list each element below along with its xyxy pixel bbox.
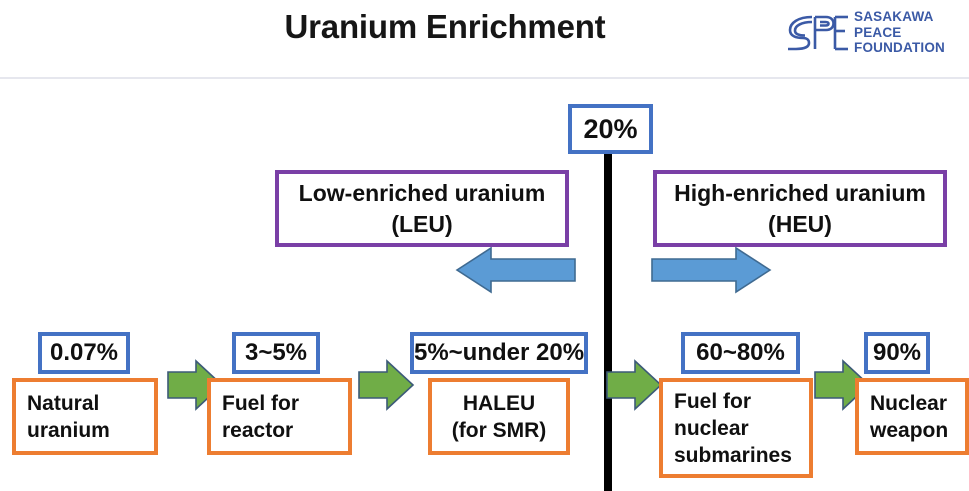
green-arrow-2 <box>357 359 415 411</box>
nuclear-weapon-line-2: weapon <box>870 417 948 444</box>
percent-box-haleu: 5%~under 20% <box>410 332 588 374</box>
page-title: Uranium Enrichment <box>0 8 890 46</box>
green-arrow-3 <box>605 359 663 411</box>
category-heu-line-1: High-enriched uranium <box>674 178 926 209</box>
percent-box-fuel-for-nuclear-submarines: 60~80% <box>681 332 800 374</box>
threshold-percent-box: 20% <box>568 104 653 154</box>
category-leu-line-2: (LEU) <box>391 209 452 240</box>
percent-box-natural-uranium: 0.07% <box>38 332 130 374</box>
nuclear-weapon-line-1: Nuclear <box>870 390 947 417</box>
haleu-line-1: HALEU <box>463 390 535 417</box>
fuel-submarines-line-2: nuclear <box>674 415 749 442</box>
blue-arrow-right <box>650 246 772 294</box>
blue-arrow-left <box>455 246 577 294</box>
header-divider <box>0 77 969 79</box>
fuel-for-reactor-line-1: Fuel for <box>222 390 299 417</box>
threshold-divider-line <box>604 144 612 491</box>
category-box-leu: Low-enriched uranium (LEU) <box>275 170 569 247</box>
logo-line-2: PEACE <box>854 25 954 41</box>
natural-uranium-line-2: uranium <box>27 417 110 444</box>
natural-uranium-line-1: Natural <box>27 390 99 417</box>
logo-wordmark: SASAKAWA PEACE FOUNDATION <box>854 9 954 56</box>
item-box-fuel-for-reactor: Fuel for reactor <box>207 378 352 455</box>
item-box-fuel-for-nuclear-submarines: Fuel for nuclear submarines <box>659 378 813 478</box>
item-box-haleu: HALEU (for SMR) <box>428 378 570 455</box>
logo-line-1: SASAKAWA <box>854 9 954 25</box>
percent-box-fuel-for-reactor: 3~5% <box>232 332 320 374</box>
fuel-for-reactor-line-2: reactor <box>222 417 293 444</box>
category-box-heu: High-enriched uranium (HEU) <box>653 170 947 247</box>
percent-box-nuclear-weapon: 90% <box>864 332 930 374</box>
category-heu-line-2: (HEU) <box>768 209 832 240</box>
spf-monogram-icon <box>782 11 850 55</box>
fuel-submarines-line-3: submarines <box>674 442 792 469</box>
sasakawa-peace-foundation-logo: SASAKAWA PEACE FOUNDATION <box>782 9 954 59</box>
logo-line-3: FOUNDATION <box>854 40 954 56</box>
item-box-nuclear-weapon: Nuclear weapon <box>855 378 969 455</box>
item-box-natural-uranium: Natural uranium <box>12 378 158 455</box>
category-leu-line-1: Low-enriched uranium <box>299 178 546 209</box>
haleu-line-2: (for SMR) <box>452 417 546 444</box>
slide-canvas: Uranium Enrichment <box>0 0 969 491</box>
fuel-submarines-line-1: Fuel for <box>674 388 751 415</box>
